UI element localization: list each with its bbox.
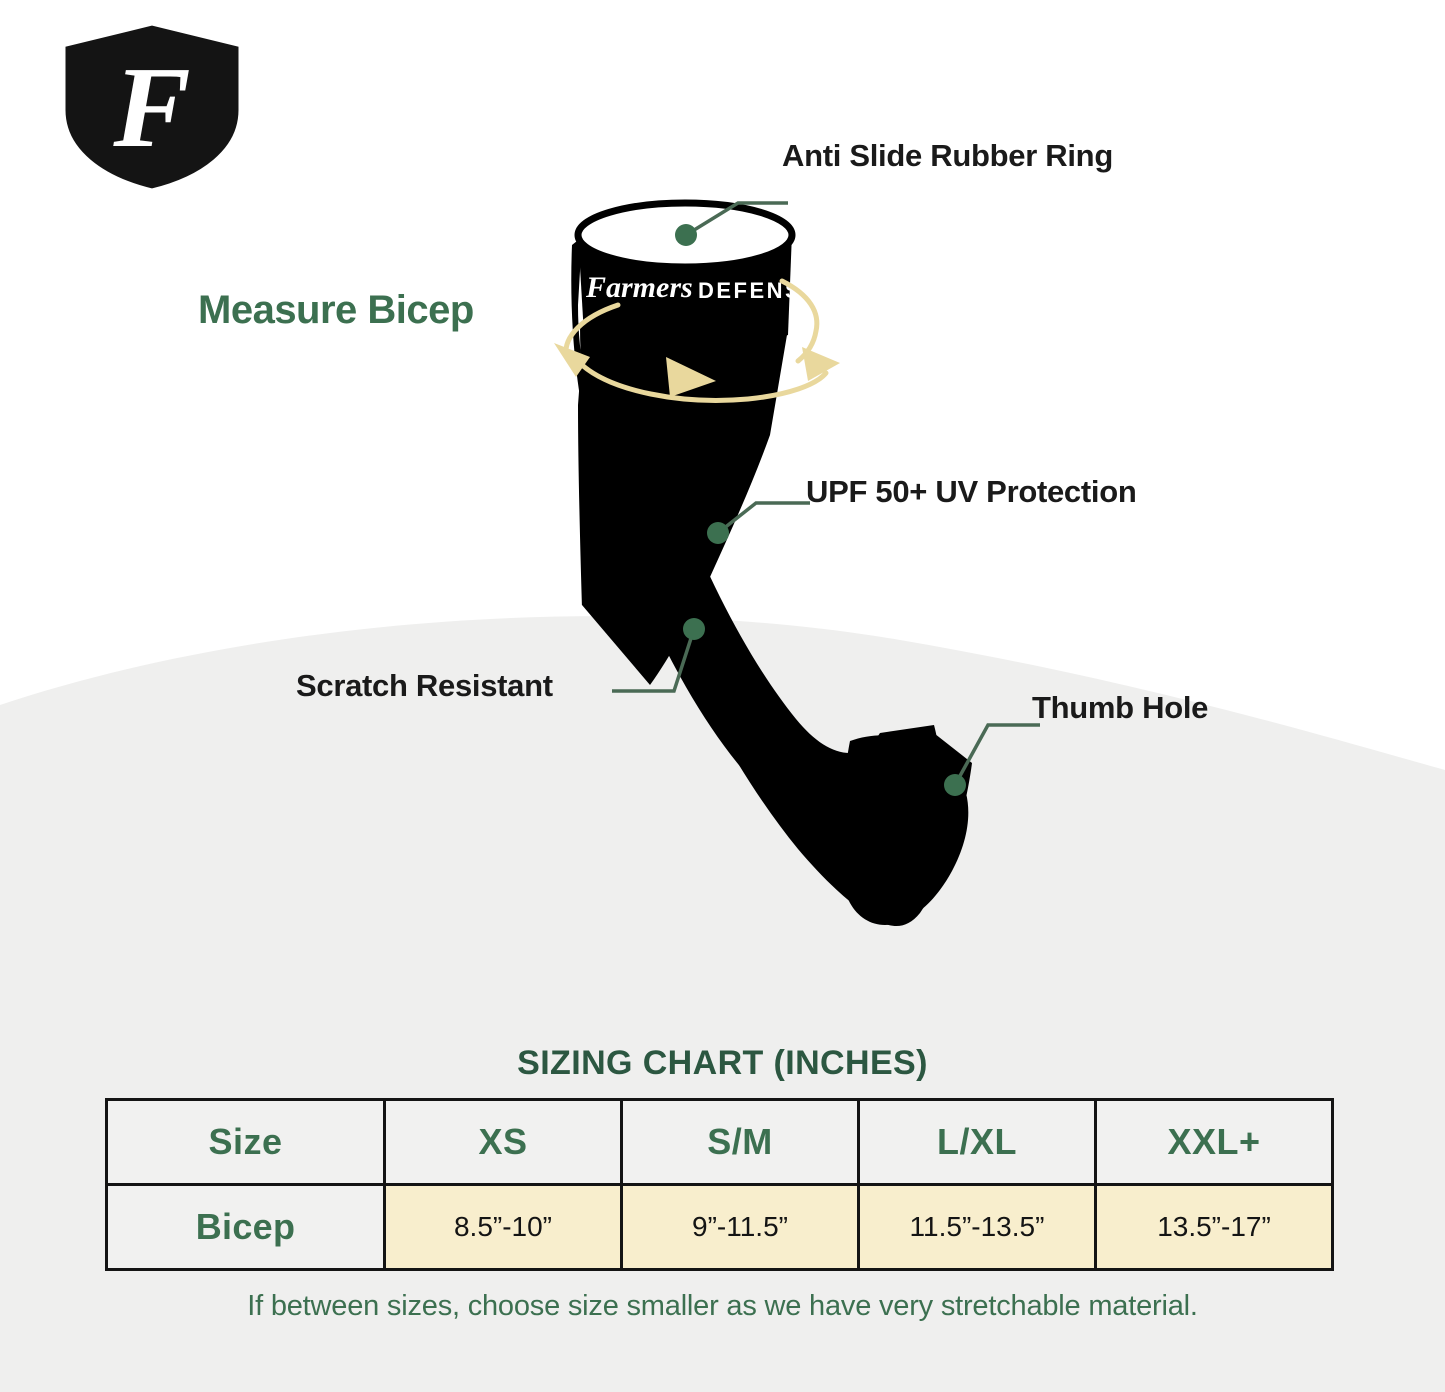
- sleeve-body: [571, 201, 972, 926]
- arm-sleeve-illustration: Farmers DEFENSE: [520, 185, 1040, 945]
- callout-label-thumb-hole: Thumb Hole: [1032, 692, 1208, 723]
- table-header-row: Size XS S/M L/XL XXL+: [107, 1100, 1333, 1185]
- sizing-chart-title: SIZING CHART (INCHES): [0, 1044, 1445, 1083]
- infographic-page: F Farmers DEFENSE: [0, 0, 1445, 1392]
- table-row: Bicep 8.5”-10” 9”-11.5” 11.5”-13.5” 13.5…: [107, 1185, 1333, 1270]
- callout-label-upf-uv-protection: UPF 50+ UV Protection: [806, 476, 1136, 507]
- table-header-xs: XS: [385, 1100, 622, 1185]
- shield-logo-letter: F: [112, 44, 190, 172]
- table-row-label-bicep: Bicep: [107, 1185, 385, 1270]
- table-header-lxl: L/XL: [859, 1100, 1096, 1185]
- table-header-size: Size: [107, 1100, 385, 1185]
- sizing-chart-note: If between sizes, choose size smaller as…: [0, 1290, 1445, 1323]
- table-cell-bicep-sm: 9”-11.5”: [622, 1185, 859, 1270]
- table-cell-bicep-lxl: 11.5”-13.5”: [859, 1185, 1096, 1270]
- sizing-chart-table: Size XS S/M L/XL XXL+ Bicep 8.5”-10” 9”-…: [105, 1098, 1334, 1271]
- table-cell-bicep-xxl: 13.5”-17”: [1096, 1185, 1333, 1270]
- table-header-sm: S/M: [622, 1100, 859, 1185]
- callout-label-anti-slide-rubber-ring: Anti Slide Rubber Ring: [782, 140, 1113, 171]
- callout-label-measure-bicep: Measure Bicep: [198, 290, 474, 330]
- table-cell-bicep-xs: 8.5”-10”: [385, 1185, 622, 1270]
- sleeve-brand-script: Farmers: [585, 271, 693, 304]
- shield-logo-icon: F: [52, 18, 252, 196]
- table-header-xxl: XXL+: [1096, 1100, 1333, 1185]
- callout-label-scratch-resistant: Scratch Resistant: [296, 670, 553, 701]
